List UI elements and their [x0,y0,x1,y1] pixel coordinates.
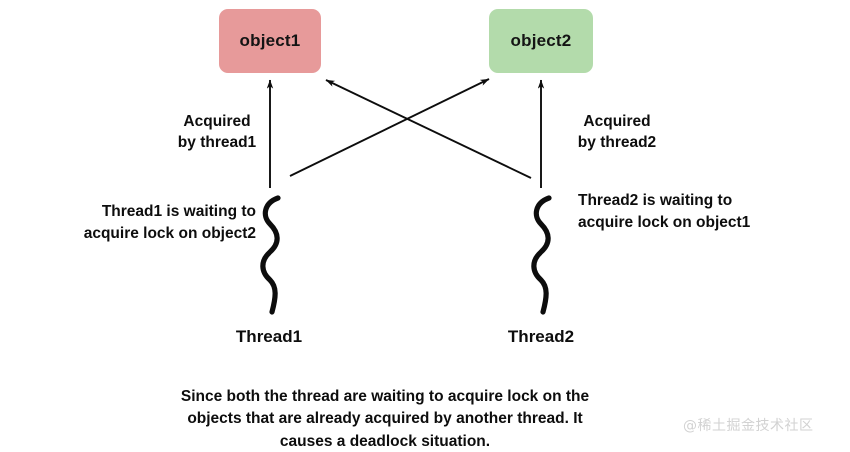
thread1-squiggle-icon [263,198,278,312]
object2-box: object2 [489,9,593,73]
thread2-waiting-label: Thread2 is waiting to acquire lock on ob… [578,190,796,234]
acquired-by-thread1-label: Acquired by thread1 [158,111,276,154]
deadlock-caption: Since both the thread are waiting to acq… [125,386,645,452]
object1-box: object1 [219,9,321,73]
watermark-label: @稀土掘金技术社区 [683,415,814,435]
thread1-waiting-label: Thread1 is waiting to acquire lock on ob… [42,201,256,245]
arrow-thread1-wants-object2 [290,79,489,176]
acquired-by-thread2-label: Acquired by thread2 [556,111,678,154]
object1-label: object1 [240,31,301,51]
object2-label: object2 [511,31,572,51]
arrow-thread2-wants-object1 [326,80,531,178]
thread2-squiggle-icon [534,198,549,312]
deadlock-diagram-canvas: object1 object2 Acquired by thread1 Acqu… [0,0,850,452]
thread2-name-label: Thread2 [481,327,601,347]
thread1-name-label: Thread1 [209,327,329,347]
